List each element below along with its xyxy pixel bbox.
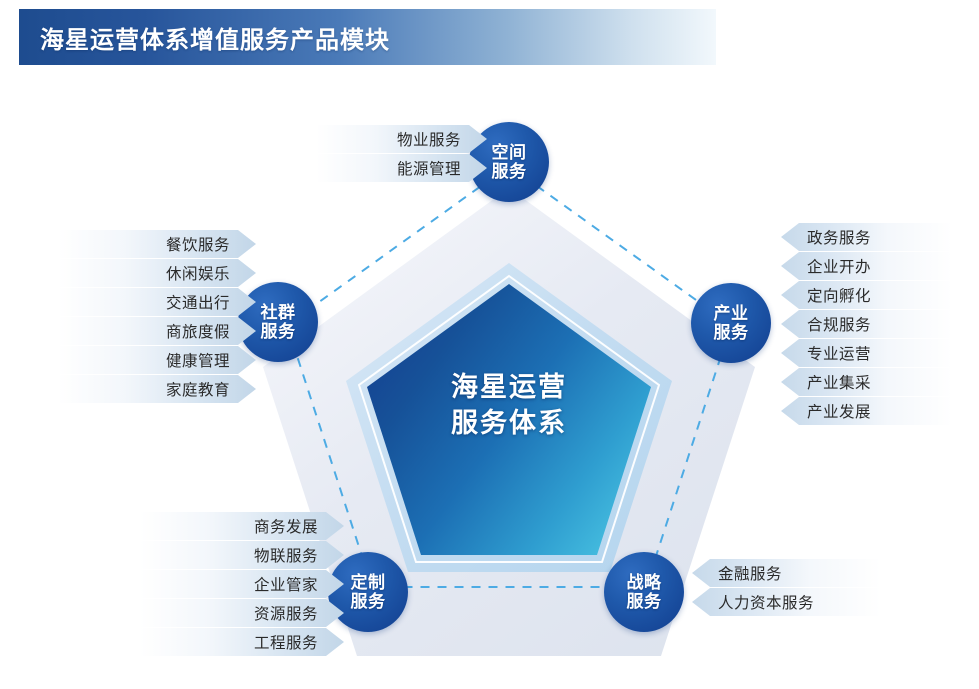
divider bbox=[58, 258, 256, 259]
divider bbox=[692, 587, 881, 588]
divider bbox=[140, 598, 344, 599]
list-item[interactable]: 餐饮服务 bbox=[58, 230, 256, 258]
list-item[interactable]: 定向孵化 bbox=[781, 281, 952, 309]
list-item[interactable]: 商旅度假 bbox=[58, 317, 256, 345]
list-item[interactable]: 商务发展 bbox=[140, 512, 344, 540]
infographic-page: 海星运营体系增值服务产品模块 bbox=[0, 0, 979, 689]
list-item[interactable]: 企业开办 bbox=[781, 252, 952, 280]
node-strategy-line2: 服务 bbox=[627, 592, 662, 611]
list-item[interactable]: 金融服务 bbox=[692, 559, 881, 587]
list-item[interactable]: 能源管理 bbox=[316, 154, 487, 182]
node-space-line1: 空间 bbox=[492, 143, 527, 162]
list-item[interactable]: 资源服务 bbox=[140, 599, 344, 627]
list-item-label: 金融服务 bbox=[718, 562, 782, 584]
list-item-label: 能源管理 bbox=[397, 157, 461, 179]
list-item-label: 交通出行 bbox=[166, 291, 230, 313]
list-item-label: 餐饮服务 bbox=[166, 233, 230, 255]
center-label-line1: 海星运营 bbox=[394, 370, 624, 406]
list-item[interactable]: 家庭教育 bbox=[58, 375, 256, 403]
list-item-label: 健康管理 bbox=[166, 349, 230, 371]
node-industry[interactable]: 产业 服务 bbox=[691, 283, 771, 363]
list-item-label: 专业运营 bbox=[807, 342, 871, 364]
list-item-label: 物业服务 bbox=[397, 128, 461, 150]
list-item-label: 政务服务 bbox=[807, 226, 871, 248]
divider bbox=[58, 345, 256, 346]
node-custom[interactable]: 定制 服务 bbox=[328, 552, 408, 632]
list-item-label: 资源服务 bbox=[254, 602, 318, 624]
list-item-label: 产业发展 bbox=[807, 400, 871, 422]
node-community[interactable]: 社群 服务 bbox=[238, 282, 318, 362]
page-title: 海星运营体系增值服务产品模块 bbox=[40, 9, 700, 65]
list-item-label: 产业集采 bbox=[807, 371, 871, 393]
list-item[interactable]: 物联服务 bbox=[140, 541, 344, 569]
list-item-label: 物联服务 bbox=[254, 544, 318, 566]
center-label-line2: 服务体系 bbox=[394, 406, 624, 442]
node-custom-line2: 服务 bbox=[351, 592, 386, 611]
list-item[interactable]: 健康管理 bbox=[58, 346, 256, 374]
list-item[interactable]: 物业服务 bbox=[316, 125, 487, 153]
list-item[interactable]: 政务服务 bbox=[781, 223, 952, 251]
node-space-line2: 服务 bbox=[492, 162, 527, 181]
divider bbox=[58, 374, 256, 375]
list-item-label: 商务发展 bbox=[254, 515, 318, 537]
node-space[interactable]: 空间 服务 bbox=[469, 122, 549, 202]
list-item-label: 合规服务 bbox=[807, 313, 871, 335]
center-label: 海星运营 服务体系 bbox=[394, 370, 624, 441]
list-item[interactable]: 交通出行 bbox=[58, 288, 256, 316]
node-strategy[interactable]: 战略 服务 bbox=[604, 552, 684, 632]
list-item[interactable]: 专业运营 bbox=[781, 339, 952, 367]
node-industry-line1: 产业 bbox=[714, 304, 749, 323]
node-strategy-line1: 战略 bbox=[627, 573, 662, 592]
divider bbox=[140, 540, 344, 541]
list-item[interactable]: 产业发展 bbox=[781, 397, 952, 425]
pentagon-diagram: 海星运营 服务体系 空间 服务 物业服务 能源管理 社群 服务 餐饮服务 bbox=[0, 70, 979, 689]
node-custom-line1: 定制 bbox=[351, 573, 386, 592]
list-community: 餐饮服务 休闲娱乐 交通出行 商旅度假 健康管理 家庭教育 bbox=[58, 230, 230, 404]
list-strategy: 金融服务 人力资本服务 bbox=[692, 559, 855, 617]
list-industry: 政务服务 企业开办 定向孵化 合规服务 专业运营 产业集采 bbox=[781, 223, 926, 426]
list-item-label: 企业管家 bbox=[254, 573, 318, 595]
divider bbox=[58, 287, 256, 288]
node-community-line1: 社群 bbox=[261, 303, 296, 322]
divider bbox=[58, 316, 256, 317]
list-item-label: 定向孵化 bbox=[807, 284, 871, 306]
list-item[interactable]: 合规服务 bbox=[781, 310, 952, 338]
list-item-label: 工程服务 bbox=[254, 631, 318, 653]
divider bbox=[140, 627, 344, 628]
list-item[interactable]: 休闲娱乐 bbox=[58, 259, 256, 287]
list-item-label: 企业开办 bbox=[807, 255, 871, 277]
list-item-label: 商旅度假 bbox=[166, 320, 230, 342]
divider bbox=[140, 569, 344, 570]
list-item[interactable]: 产业集采 bbox=[781, 368, 952, 396]
node-community-line2: 服务 bbox=[261, 322, 296, 341]
list-space: 物业服务 能源管理 bbox=[316, 125, 461, 183]
list-item-label: 休闲娱乐 bbox=[166, 262, 230, 284]
list-custom: 商务发展 物联服务 企业管家 资源服务 工程服务 bbox=[140, 512, 318, 657]
list-item-label: 家庭教育 bbox=[166, 378, 230, 400]
list-item-label: 人力资本服务 bbox=[718, 591, 814, 613]
list-item[interactable]: 人力资本服务 bbox=[692, 588, 881, 616]
node-industry-line2: 服务 bbox=[714, 323, 749, 342]
list-item[interactable]: 企业管家 bbox=[140, 570, 344, 598]
list-item[interactable]: 工程服务 bbox=[140, 628, 344, 656]
